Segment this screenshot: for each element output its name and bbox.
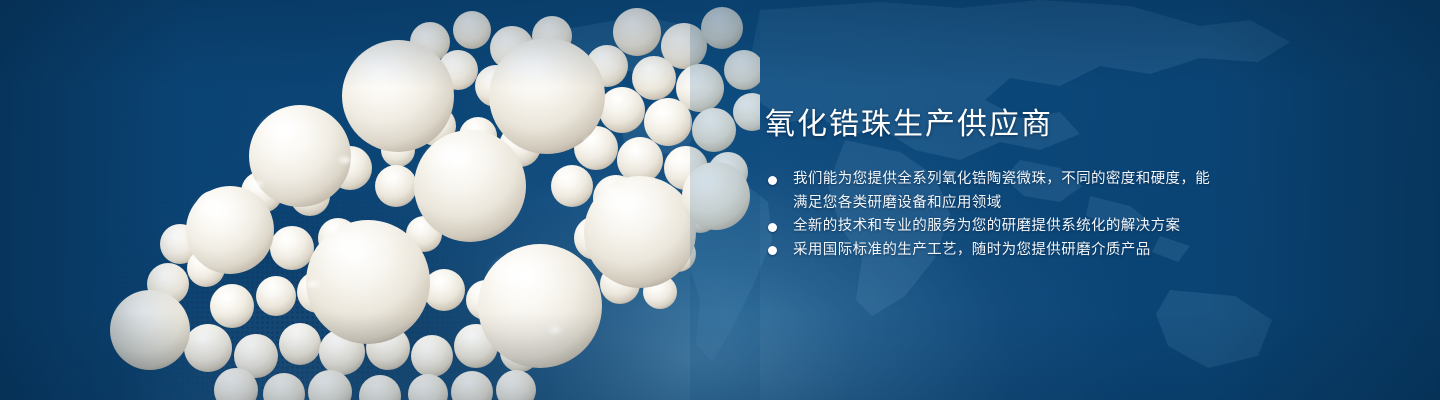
edge-vignette [0,0,1440,400]
hero-banner: 氧化锆珠生产供应商 我们能为您提供全系列氧化锆陶瓷微珠，不同的密度和硬度，能满足… [0,0,1440,400]
